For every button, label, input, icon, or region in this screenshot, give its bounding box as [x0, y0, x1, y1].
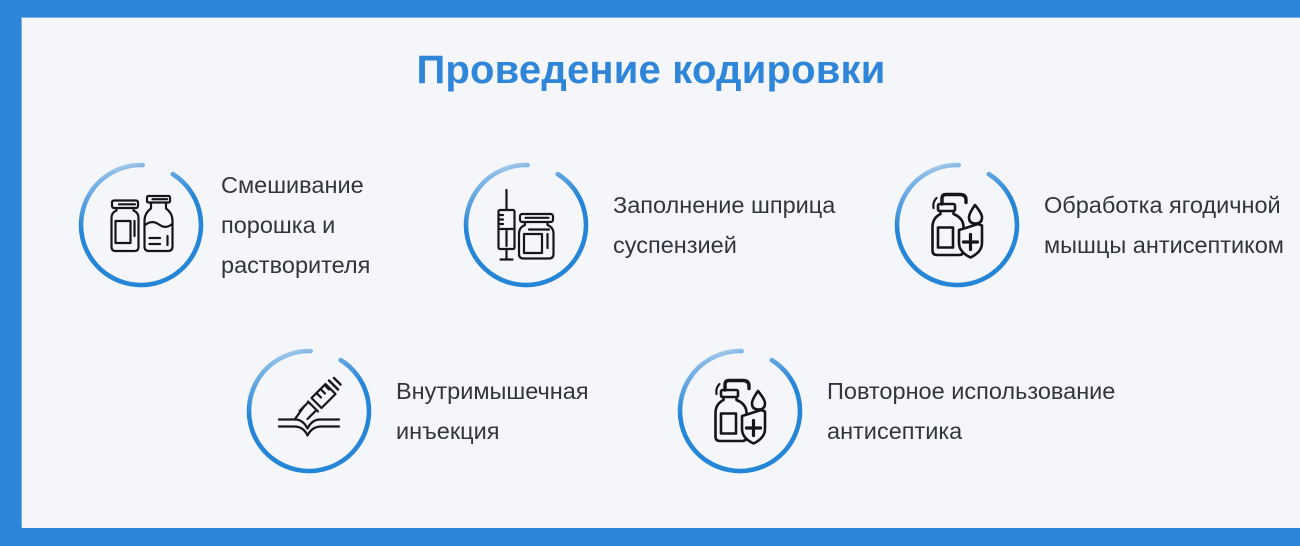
page-title: Проведение кодировки [22, 48, 1280, 93]
vials-powder-and-solvent-icon [104, 188, 178, 262]
syringe-and-vial-icon [489, 188, 563, 262]
step-5-label: Повторное использование антисептика [827, 371, 1115, 451]
content-panel: Проведение кодировки [22, 18, 1300, 528]
step-3-label: Обработка ягодичной мышцы антисептиком [1044, 185, 1284, 265]
step-2-circle [463, 162, 589, 288]
step-1-label: Смешивание порошка и растворителя [221, 165, 370, 285]
step-item-5[interactable]: Повторное использование антисептика [677, 348, 1115, 474]
step-item-2[interactable]: Заполнение шприца суспензией [463, 162, 835, 288]
step-3-circle [894, 162, 1020, 288]
step-item-3[interactable]: Обработка ягодичной мышцы антисептиком [894, 162, 1284, 288]
step-item-1[interactable]: Смешивание порошка и растворителя [78, 162, 370, 288]
antiseptic-dispenser-shield-icon [920, 188, 994, 262]
step-1-circle [78, 162, 204, 288]
intramuscular-injection-icon [272, 374, 346, 448]
step-item-4[interactable]: Внутримышечная инъекция [246, 348, 589, 474]
step-4-circle [246, 348, 372, 474]
step-5-circle [677, 348, 803, 474]
step-2-label: Заполнение шприца суспензией [613, 185, 835, 265]
antiseptic-dispenser-shield-icon [703, 374, 777, 448]
step-4-label: Внутримышечная инъекция [396, 371, 589, 451]
infographic-poster: Проведение кодировки [0, 0, 1300, 546]
